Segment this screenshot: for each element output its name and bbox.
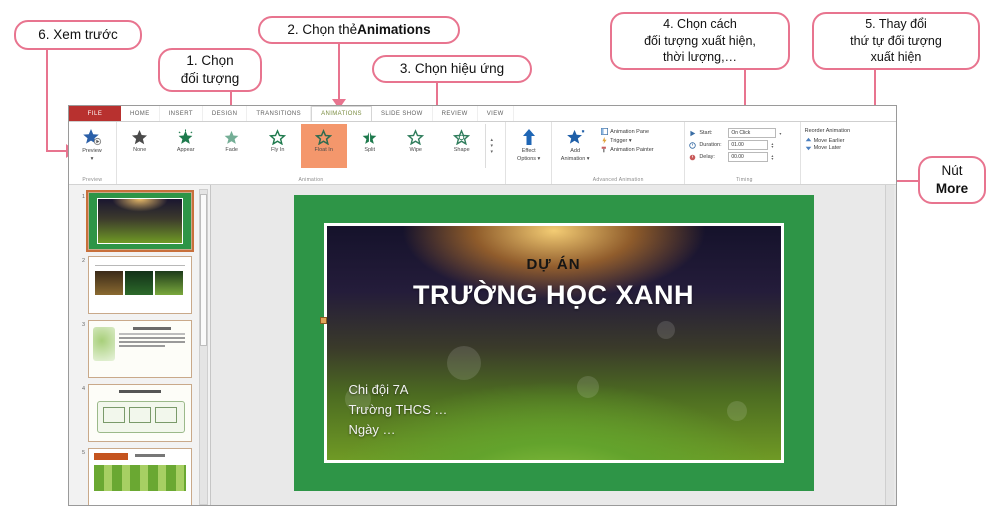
thumbnail-row-5[interactable]: 5 [69,445,210,506]
reorder-animation-title-label: Reorder Animation [805,128,851,134]
thumbnail-slide-4[interactable] [88,384,192,442]
up-arrow-icon [521,128,537,146]
thumbnail-scrollbar-thumb[interactable] [200,194,207,346]
effect-options-line1: Effect [522,148,536,154]
animation-pane-label: Animation Pane [610,129,649,135]
animation-appear[interactable]: Appear [163,124,209,168]
timing-delay-row[interactable]: Delay: 00.00 ▴▾ [689,152,773,162]
move-earlier-button[interactable]: Move Earlier [805,137,845,144]
timing-duration-spinner[interactable]: ▴▾ [771,142,773,148]
ribbon-group-reorder: Reorder Animation Move Earlier Move Late… [801,122,896,184]
preview-caret-icon[interactable]: ▾ [91,156,94,162]
ribbon: Preview ▾ Preview None [69,122,896,185]
preview-group-label: Preview [69,177,116,184]
animation-pane-button[interactable]: Animation Pane [601,128,653,135]
callout-2-animations-tab: 2. Chọn thẻ Animations [258,16,460,44]
star-split-icon [361,129,378,145]
tab-design[interactable]: DESIGN [203,106,247,121]
tab-file-label: FILE [88,111,103,117]
timing-delay-value[interactable]: 00.00 [728,152,768,162]
callout-more-line2: More [936,180,968,198]
thumbnail-slide-5[interactable] [88,448,192,506]
tab-view[interactable]: VIEW [478,106,514,121]
trigger-icon [601,137,608,144]
timing-start-dropdown-icon[interactable]: ▾ [779,132,781,135]
animation-none-label: None [133,147,146,153]
thumbnail-number-1: 1 [73,192,88,201]
delay-icon [689,154,696,161]
tab-slide-show-label: SLIDE SHOW [381,111,423,117]
callout-4-line1: 4. Chọn cách [663,16,737,33]
thumbnail-scrollbar[interactable] [199,189,208,505]
ribbon-group-advanced-animation: Add Animation ▾ Animation Pane [552,122,685,184]
timing-start-row[interactable]: Start: On Click ▾ [689,128,781,138]
selection-handle[interactable] [320,317,327,324]
powerpoint-window: FILE HOME INSERT DESIGN TRANSITIONS ANIM… [68,105,897,506]
slide-body-line-1: Chi đội 7A [349,380,448,400]
callout-5-line1: 5. Thay đổi [865,16,927,33]
callout-4-effect-options: 4. Chọn cách đối tượng xuất hiện, thời l… [610,12,790,70]
tab-insert[interactable]: INSERT [160,106,203,121]
reorder-body: Reorder Animation Move Earlier Move Late… [805,124,896,177]
slide-title[interactable]: TRƯỜNG HỌC XANH [327,280,781,311]
animation-split[interactable]: Split [347,124,393,168]
callout-5-reorder: 5. Thay đổi thứ tự đối tượng xuất hiện [812,12,980,70]
star-fade-icon [223,129,240,145]
animation-painter-icon [601,146,608,153]
slide-subtitle[interactable]: DỰ ÁN [327,256,781,273]
timing-group-label: Timing [689,177,799,184]
star-shape-icon [453,129,470,145]
ribbon-group-timing: Start: On Click ▾ Duration: 01.00 ▴▾ [685,122,800,184]
bokeh-dot [727,401,747,421]
advanced-animation-group-label: Advanced Animation [552,177,684,184]
animation-shape-label: Shape [454,147,470,153]
move-later-label: Move Later [814,145,842,151]
tab-view-label: VIEW [487,111,504,117]
move-earlier-icon [805,137,812,144]
add-animation-line2: Animation ▾ [561,156,590,162]
tab-slide-show[interactable]: SLIDE SHOW [372,106,433,121]
thumbnail-row-1[interactable]: 1 [69,189,210,253]
animation-gallery: None Appear Fade [117,124,505,177]
effect-options-button[interactable]: Effect Options ▾ [506,124,551,163]
animation-float-in[interactable]: Float In [301,124,347,168]
callout-2-strong: Animations [357,21,431,39]
animation-wipe[interactable]: Wipe [393,124,439,168]
slide-background-image: DỰ ÁN TRƯỜNG HỌC XANH Chi đội 7A Trường … [324,223,784,463]
slide-editing-stage: DỰ ÁN TRƯỜNG HỌC XANH Chi đội 7A Trường … [211,185,896,506]
timing-start-value[interactable]: On Click [728,128,776,138]
tab-animations-label: ANIMATIONS [321,111,362,117]
callout-4-line3: thời lượng,… [663,49,737,66]
animation-none[interactable]: None [117,124,163,168]
timing-body: Start: On Click ▾ Duration: 01.00 ▴▾ [689,124,799,177]
add-animation-star-icon [566,128,585,146]
timing-delay-spinner[interactable]: ▴▾ [771,154,773,160]
thumbnail-slide-1[interactable] [88,192,192,250]
start-icon [689,130,696,137]
effect-options-body: Effect Options ▾ [506,124,551,177]
callout-4-leader-vertical [744,70,746,110]
timing-start-label: Start: [699,130,725,136]
animation-fly-in[interactable]: Fly In [255,124,301,168]
preview-star-icon [82,128,102,146]
more-expand-icon[interactable]: ▾ [490,150,493,154]
callout-6-leader-vertical [46,50,48,152]
more-down-icon[interactable]: ▾ [490,144,493,148]
animation-painter-label: Animation Painter [610,147,653,153]
timing-duration-value[interactable]: 01.00 [728,140,768,150]
add-animation-line1: Add [570,148,580,154]
stage-scrollbar[interactable] [885,185,894,506]
tab-home[interactable]: HOME [121,106,160,121]
more-up-icon[interactable]: ▴ [490,138,493,142]
duration-icon [689,142,696,149]
work-area: 1 2 3 [69,185,896,506]
callout-4-line2: đối tượng xuất hiện, [644,33,756,50]
callout-more-line1: Nút [941,162,962,180]
animation-pane-icon [601,128,608,135]
current-slide[interactable]: DỰ ÁN TRƯỜNG HỌC XANH Chi đội 7A Trường … [294,195,814,491]
animation-wipe-label: Wipe [409,147,422,153]
preview-button-label: Preview [82,148,102,154]
tab-design-label: DESIGN [212,111,237,117]
animation-float-in-label: Float In [315,147,333,153]
thumbnail-row-4[interactable]: 4 [69,381,210,445]
callout-6-preview: 6. Xem trước [14,20,142,50]
tab-insert-label: INSERT [169,111,193,117]
timing-delay-label: Delay: [699,154,725,160]
move-later-icon [805,144,812,151]
bokeh-dot [447,346,481,380]
tab-file[interactable]: FILE [69,106,121,121]
move-later-button[interactable]: Move Later [805,144,842,151]
tab-transitions[interactable]: TRANSITIONS [247,106,311,121]
tab-home-label: HOME [130,111,150,117]
thumbnail-row-2[interactable]: 2 [69,253,210,317]
tab-animations[interactable]: ANIMATIONS [311,106,372,121]
slide-thumbnail-pane[interactable]: 1 2 3 [69,185,211,506]
ribbon-group-preview: Preview ▾ Preview [69,122,117,184]
animation-fly-in-label: Fly In [271,147,284,153]
animation-more-button[interactable]: ▴ ▾ ▾ [485,124,498,168]
thumbnail-number-2: 2 [73,256,88,265]
reorder-group-label [805,177,896,184]
animation-shape[interactable]: Shape [439,124,485,168]
star-floatin-icon [315,129,332,145]
callout-1-select-object: 1. Chọn đối tượng [158,48,262,92]
move-earlier-label: Move Earlier [814,138,845,144]
trigger-button[interactable]: Trigger ▾ [601,137,653,144]
advanced-animation-commands: Animation Pane Trigger ▾ Animation [598,124,656,153]
slide-body-line-2: Trường THCS … [349,400,448,420]
callout-1-line2: đối tượng [181,70,239,88]
callout-2-leader-vertical [338,44,340,101]
ribbon-tab-strip: FILE HOME INSERT DESIGN TRANSITIONS ANIM… [69,106,896,122]
thumbnail-row-3[interactable]: 3 [69,317,210,381]
ribbon-group-animation: None Appear Fade [117,122,506,184]
thumbnail-number-5: 5 [73,448,88,457]
effect-options-line2: Options ▾ [517,156,540,162]
preview-group-body: Preview ▾ [69,124,116,177]
thumbnail-number-4: 4 [73,384,88,393]
timing-duration-label: Duration: [699,142,725,148]
tab-review-label: REVIEW [442,111,468,117]
animation-group-label: Animation [117,177,505,184]
thumbnail-slide-2[interactable] [88,256,192,314]
star-none-icon [131,129,148,145]
animation-painter-button[interactable]: Animation Painter [601,146,653,153]
animation-split-label: Split [364,147,375,153]
star-flyin-icon [269,129,286,145]
callout-6-label: 6. Xem trước [38,26,117,44]
ribbon-group-effect-options: Effect Options ▾ [506,122,552,184]
bokeh-dot [657,321,675,339]
slide-body-text[interactable]: Chi đội 7A Trường THCS … Ngày … [349,380,448,440]
star-wipe-icon [407,129,424,145]
callout-2-prefix: 2. Chọn thẻ [287,21,357,39]
callout-5-leader-vertical [874,70,876,110]
reorder-animation-title: Reorder Animation [805,128,851,134]
callout-more-button: Nút More [918,156,986,204]
effect-options-group-label [506,177,551,184]
bokeh-dot [577,376,599,398]
trigger-label: Trigger ▾ [610,138,632,144]
tab-review[interactable]: REVIEW [433,106,478,121]
callout-5-line2: thứ tự đối tượng [850,33,942,50]
animation-fade[interactable]: Fade [209,124,255,168]
star-appear-icon [177,129,194,145]
advanced-animation-body: Add Animation ▾ Animation Pane [552,124,684,177]
add-animation-button[interactable]: Add Animation ▾ [552,124,598,163]
thumbnail-number-3: 3 [73,320,88,329]
callout-3-label: 3. Chọn hiệu ứng [400,60,504,78]
callout-5-line3: xuất hiện [871,49,922,66]
slide-body-line-3: Ngày … [349,420,448,440]
callout-1-line1: 1. Chọn [186,52,233,70]
animation-fade-label: Fade [225,147,238,153]
tab-transitions-label: TRANSITIONS [256,111,301,117]
timing-duration-row[interactable]: Duration: 01.00 ▴▾ [689,140,773,150]
callout-3-choose-effect: 3. Chọn hiệu ứng [372,55,532,83]
animation-appear-label: Appear [177,147,195,153]
preview-button[interactable]: Preview ▾ [69,124,115,163]
thumbnail-slide-3[interactable] [88,320,192,378]
